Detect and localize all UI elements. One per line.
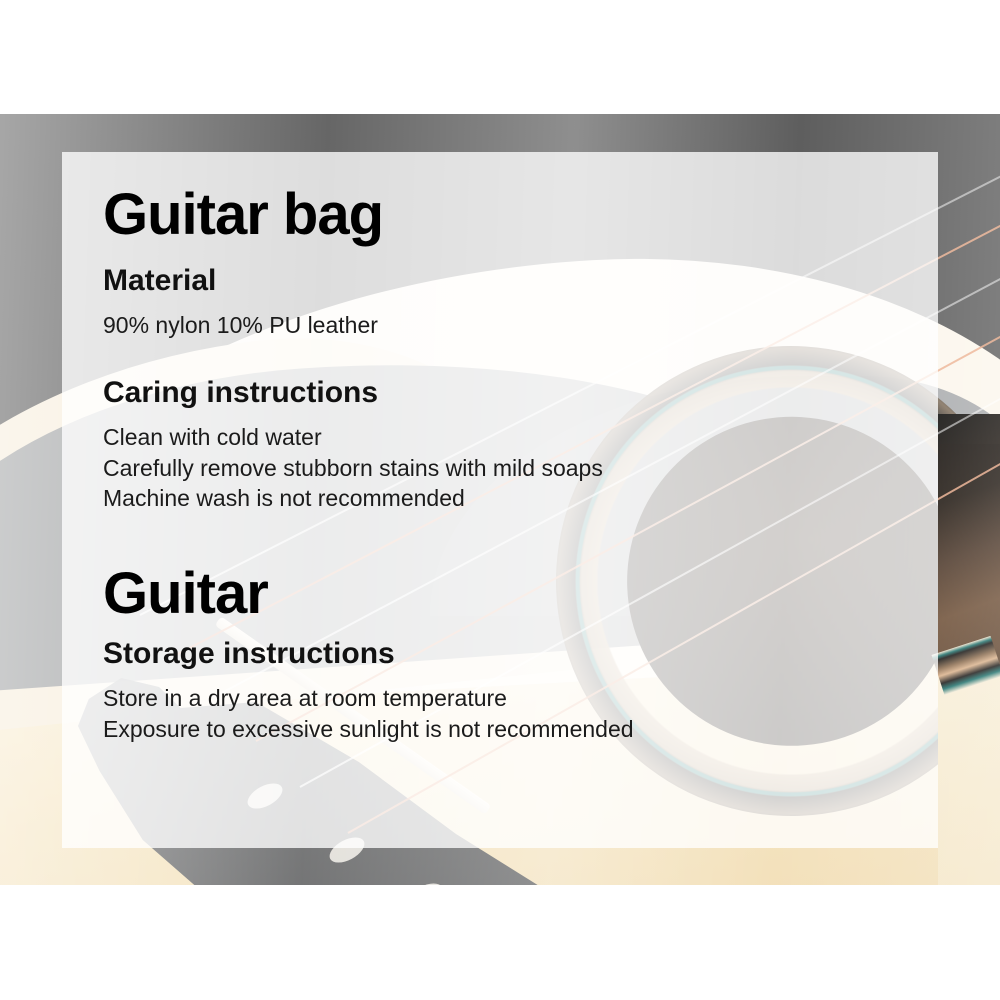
- group-storage-instructions: Storage instructions Store in a dry area…: [103, 639, 938, 744]
- material-line: 90% nylon 10% PU leather: [103, 310, 938, 340]
- spacer: [103, 340, 938, 378]
- caring-line: Machine wash is not recommended: [103, 483, 938, 513]
- specifications-panel: Guitar bag Material 90% nylon 10% PU lea…: [62, 152, 938, 848]
- heading-storage-instructions: Storage instructions: [103, 639, 938, 669]
- caring-line: Carefully remove stubborn stains with mi…: [103, 453, 938, 483]
- spacer: [103, 513, 938, 565]
- product-info-card: Guitar bag Material 90% nylon 10% PU lea…: [0, 0, 1000, 1000]
- group-material: Material 90% nylon 10% PU leather: [103, 266, 938, 340]
- section-title-guitar: Guitar: [103, 565, 938, 623]
- section-guitar: Guitar Storage instructions Store in a d…: [103, 565, 938, 744]
- section-title-guitar-bag: Guitar bag: [103, 186, 938, 244]
- heading-caring-instructions: Caring instructions: [103, 378, 938, 408]
- section-guitar-bag: Guitar bag Material 90% nylon 10% PU lea…: [103, 186, 938, 513]
- storage-line: Exposure to excessive sunlight is not re…: [103, 714, 938, 744]
- storage-line: Store in a dry area at room temperature: [103, 683, 938, 713]
- group-caring-instructions: Caring instructions Clean with cold wate…: [103, 378, 938, 513]
- heading-material: Material: [103, 266, 938, 296]
- caring-line: Clean with cold water: [103, 422, 938, 452]
